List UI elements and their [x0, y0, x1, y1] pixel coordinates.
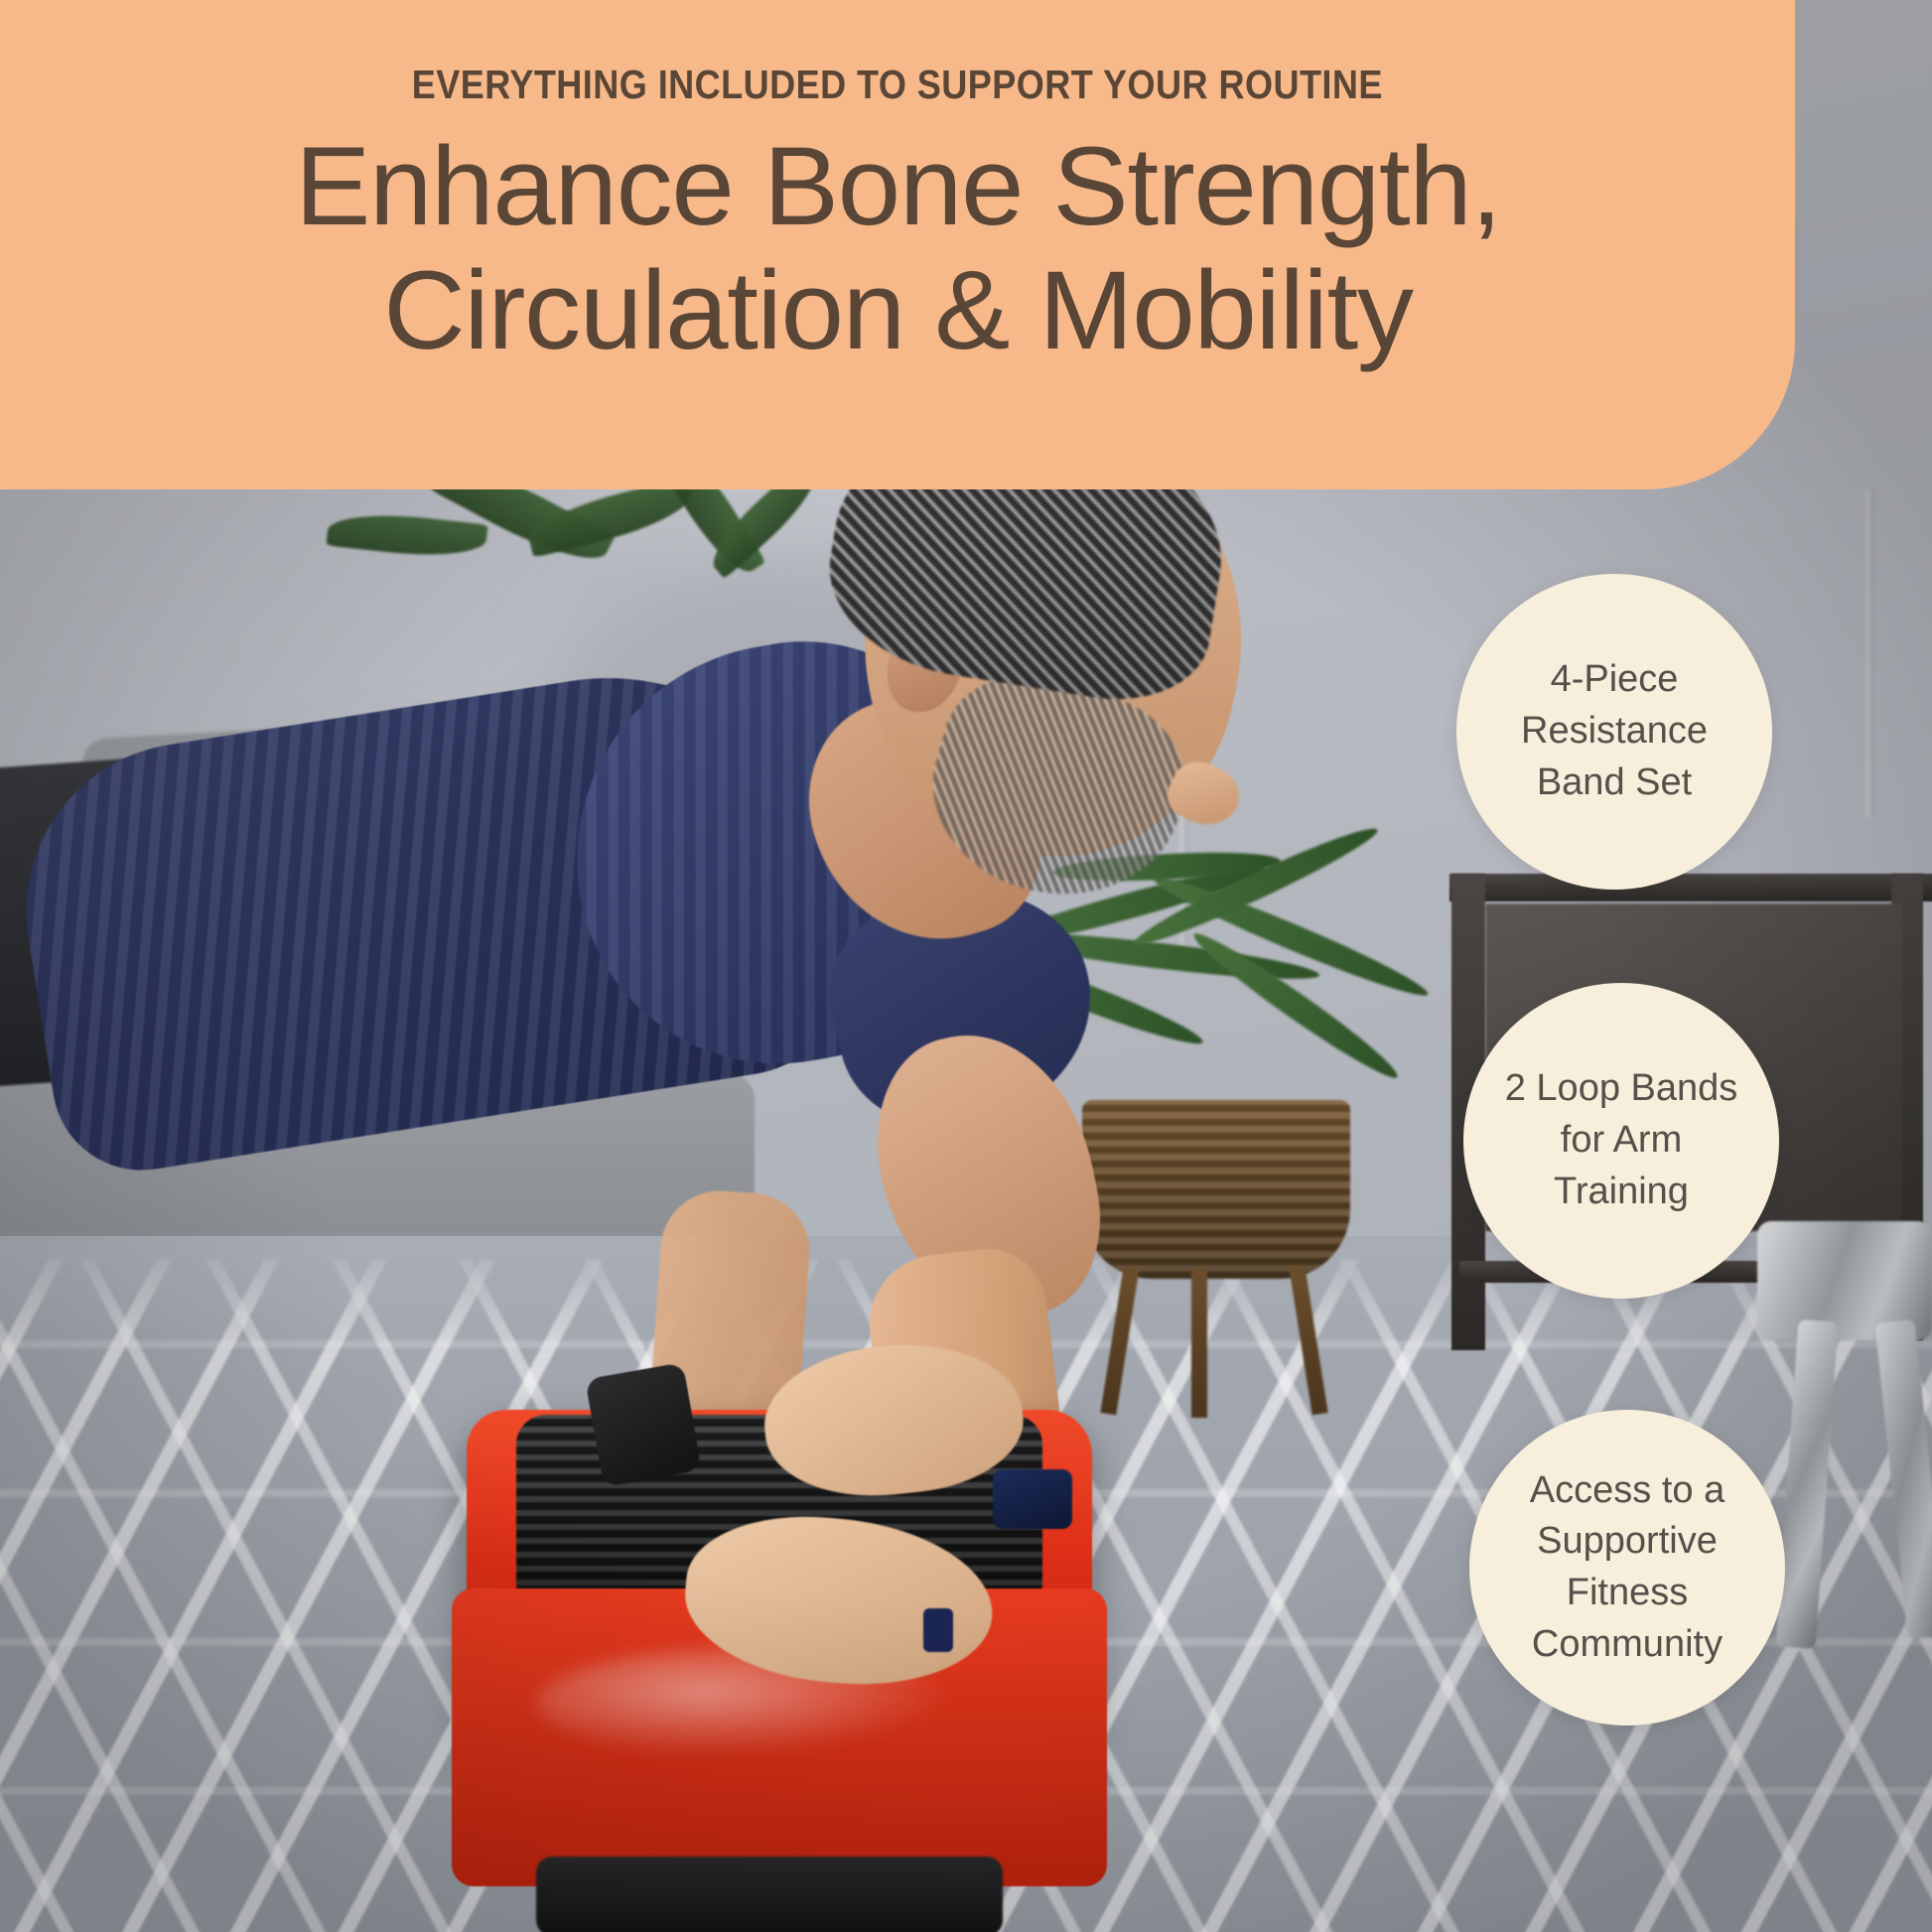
headline-line-2: Circulation & Mobility [295, 248, 1501, 372]
header-panel: EVERYTHING INCLUDED TO SUPPORT YOUR ROUT… [0, 0, 1795, 489]
feature-badge-loop-bands[interactable]: 2 Loop Bands for Arm Training [1463, 983, 1779, 1299]
feature-badge-label: 2 Loop Bands for Arm Training [1463, 1063, 1779, 1217]
feature-badge-fitness-community[interactable]: Access to a Supportive Fitness Community [1469, 1410, 1785, 1725]
headline-line-1: Enhance Bone Strength, [295, 124, 1501, 248]
feature-badge-label: Access to a Supportive Fitness Community [1469, 1465, 1785, 1671]
feature-badge-resistance-band-set[interactable]: 4-Piece Resistance Band Set [1456, 574, 1772, 890]
page-title: Enhance Bone Strength, Circulation & Mob… [295, 124, 1501, 373]
poster-canvas: EVERYTHING INCLUDED TO SUPPORT YOUR ROUT… [0, 0, 1932, 1932]
feature-badge-label: 4-Piece Resistance Band Set [1456, 654, 1772, 808]
eyebrow-text: EVERYTHING INCLUDED TO SUPPORT YOUR ROUT… [412, 62, 1383, 108]
